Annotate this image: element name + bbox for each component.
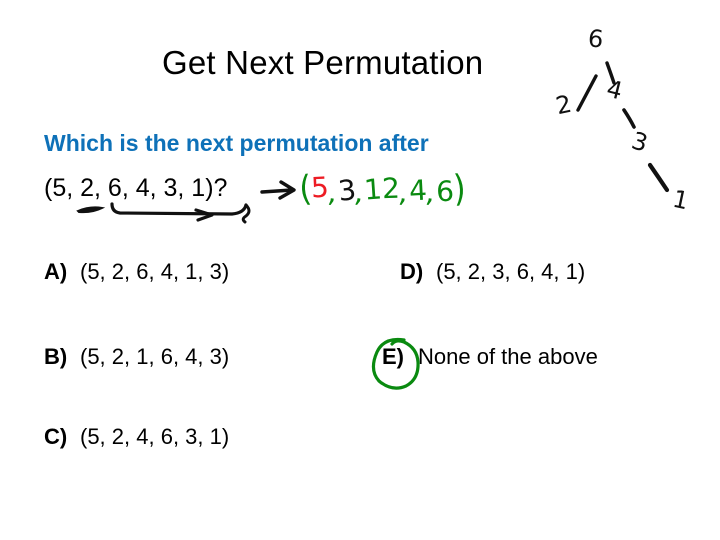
option-b-letter: B)	[44, 344, 80, 370]
page-title: Get Next Permutation	[162, 44, 483, 82]
answer-option-e[interactable]: E)None of the above	[382, 344, 598, 370]
option-e-letter: E)	[382, 344, 418, 370]
option-b-text: (5, 2, 1, 6, 4, 3)	[80, 344, 229, 369]
mountain-descent-stroke-2	[624, 110, 634, 127]
question-prompt: Which is the next permutation after	[44, 130, 429, 157]
answer-option-b[interactable]: B)(5, 2, 1, 6, 4, 3)	[44, 344, 229, 370]
ink-digit-1: 1	[363, 172, 383, 206]
pivot-mark	[78, 207, 102, 212]
option-c-text: (5, 2, 4, 6, 3, 1)	[80, 424, 229, 449]
handwritten-answer-annotation: (5,3,12,4,6)	[300, 172, 464, 205]
mountain-digit-6: 6	[587, 24, 605, 53]
answer-option-a[interactable]: A)(5, 2, 6, 4, 1, 3)	[44, 259, 229, 285]
implication-arrow-head	[280, 182, 294, 198]
mountain-digit-2: 2	[553, 90, 574, 121]
mountain-digit-4: 4	[604, 75, 626, 106]
option-c-letter: C)	[44, 424, 80, 450]
option-e-text: None of the above	[418, 344, 598, 369]
mountain-digit-3: 3	[628, 126, 650, 157]
option-d-text: (5, 2, 3, 6, 4, 1)	[436, 259, 585, 284]
option-a-text: (5, 2, 6, 4, 1, 3)	[80, 259, 229, 284]
mountain-descent-stroke-3	[650, 165, 667, 190]
suffix-arrow-head	[196, 210, 212, 220]
mountain-digit-1: 1	[670, 185, 691, 216]
permutation-line: (5, 2, 6, 4, 3, 1)?	[44, 174, 227, 203]
suffix-hook-tail	[243, 205, 249, 222]
mountain-ascent-stroke	[578, 76, 596, 110]
answer-option-d[interactable]: D)(5, 2, 3, 6, 4, 1)	[400, 259, 585, 285]
slide-canvas: Get Next Permutation Which is the next p…	[0, 0, 720, 540]
ink-paren-close: )	[452, 167, 466, 210]
suffix-underline-stroke	[112, 204, 246, 214]
option-d-letter: D)	[400, 259, 436, 285]
permutation-value: (5, 2, 6, 4, 3, 1)?	[44, 174, 227, 202]
option-a-letter: A)	[44, 259, 80, 285]
ink-digit-6: 6	[435, 175, 454, 209]
implication-arrow-shaft	[262, 190, 292, 192]
answer-option-c[interactable]: C)(5, 2, 4, 6, 3, 1)	[44, 424, 229, 450]
